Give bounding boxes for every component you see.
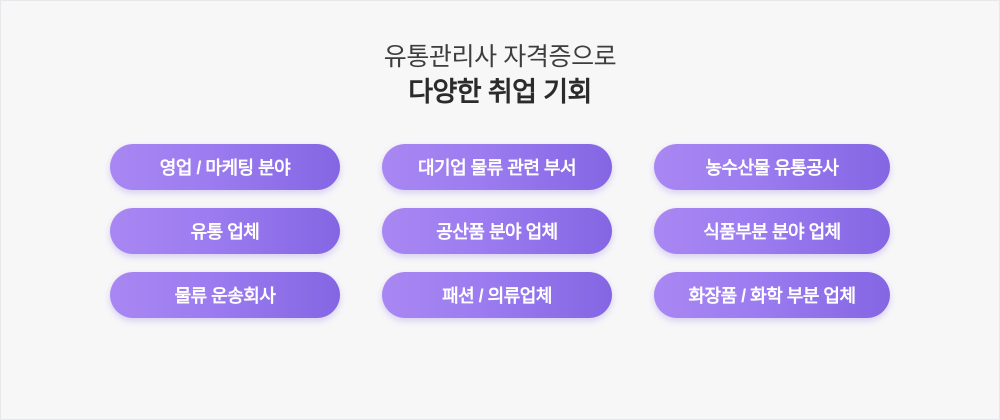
career-pill[interactable]: 영업 / 마케팅 분야 [110,144,340,190]
career-pill-grid: 영업 / 마케팅 분야 대기업 물류 관련 부서 농수산물 유통공사 유통 업체… [110,144,890,318]
heading-block: 유통관리사 자격증으로 다양한 취업 기회 [384,43,617,108]
career-pill[interactable]: 화장품 / 화학 부분 업체 [654,272,890,318]
heading-title: 다양한 취업 기회 [384,77,617,109]
career-pill[interactable]: 농수산물 유통공사 [654,144,890,190]
career-pill[interactable]: 물류 운송회사 [110,272,340,318]
career-pill[interactable]: 공산품 분야 업체 [382,208,612,254]
promo-banner: 유통관리사 자격증으로 다양한 취업 기회 영업 / 마케팅 분야 대기업 물류… [0,0,1000,420]
career-pill[interactable]: 대기업 물류 관련 부서 [382,144,612,190]
career-pill[interactable]: 유통 업체 [110,208,340,254]
heading-subtitle: 유통관리사 자격증으로 [384,43,617,73]
career-pill[interactable]: 패션 / 의류업체 [382,272,612,318]
career-pill[interactable]: 식품부분 분야 업체 [654,208,890,254]
